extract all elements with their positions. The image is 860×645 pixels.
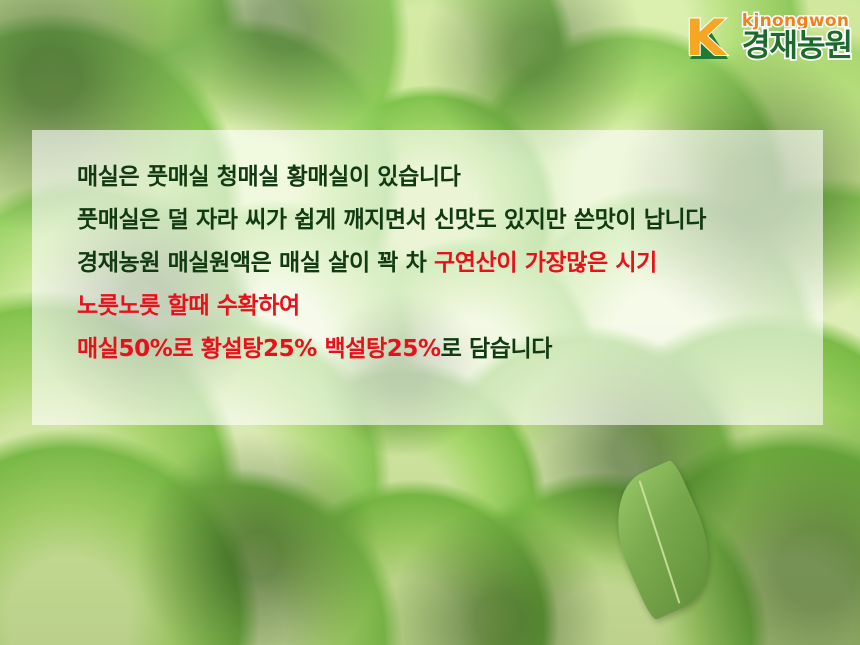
description-line-3: 경재농원 매실원액은 매실 살이 꽉 차 구연산이 가장많은 시기 xyxy=(77,242,811,285)
banner-canvas: K kjnongwon 경재농원 매실은 풋매실 청매실 황매실이 있습니다풋매… xyxy=(0,0,860,645)
description-line-5-segment-1: 로 담습니다 xyxy=(441,336,552,362)
description-line-4: 노릇노릇 할때 수확하여 xyxy=(77,285,811,328)
logo-korean-text: 경재농원 xyxy=(742,31,852,62)
description-line-2-segment-0: 풋매실은 덜 자라 씨가 쉽게 깨지면서 신맛도 있지만 쓴맛이 납니다 xyxy=(77,207,706,233)
description-line-1: 매실은 풋매실 청매실 황매실이 있습니다 xyxy=(77,156,811,199)
brand-logo[interactable]: K kjnongwon 경재농원 xyxy=(680,4,852,70)
logo-letter-k: K xyxy=(685,13,726,63)
description-line-3-segment-1: 구연산이 가장많은 시기 xyxy=(434,250,657,276)
description-line-4-segment-0: 노릇노릇 할때 수확하여 xyxy=(77,293,300,319)
description-panel: 매실은 풋매실 청매실 황매실이 있습니다풋매실은 덜 자라 씨가 쉽게 깨지면… xyxy=(32,130,823,425)
description-line-1-segment-0: 매실은 풋매실 청매실 황매실이 있습니다 xyxy=(77,164,460,190)
description-text-block: 매실은 풋매실 청매실 황매실이 있습니다풋매실은 덜 자라 씨가 쉽게 깨지면… xyxy=(77,156,811,371)
description-line-5: 매실50%로 황설탕25% 백설탕25%로 담습니다 xyxy=(77,328,811,371)
logo-wordmark: kjnongwon 경재농원 xyxy=(742,13,852,62)
description-line-2: 풋매실은 덜 자라 씨가 쉽게 깨지면서 신맛도 있지만 쓴맛이 납니다 xyxy=(77,199,811,242)
description-line-3-segment-0: 경재농원 매실원액은 매실 살이 꽉 차 xyxy=(77,250,434,276)
description-line-5-segment-0: 매실50%로 황설탕25% 백설탕25% xyxy=(77,336,441,362)
logo-romanized-text: kjnongwon xyxy=(742,13,849,30)
logo-k-mark-icon: K xyxy=(684,11,740,63)
